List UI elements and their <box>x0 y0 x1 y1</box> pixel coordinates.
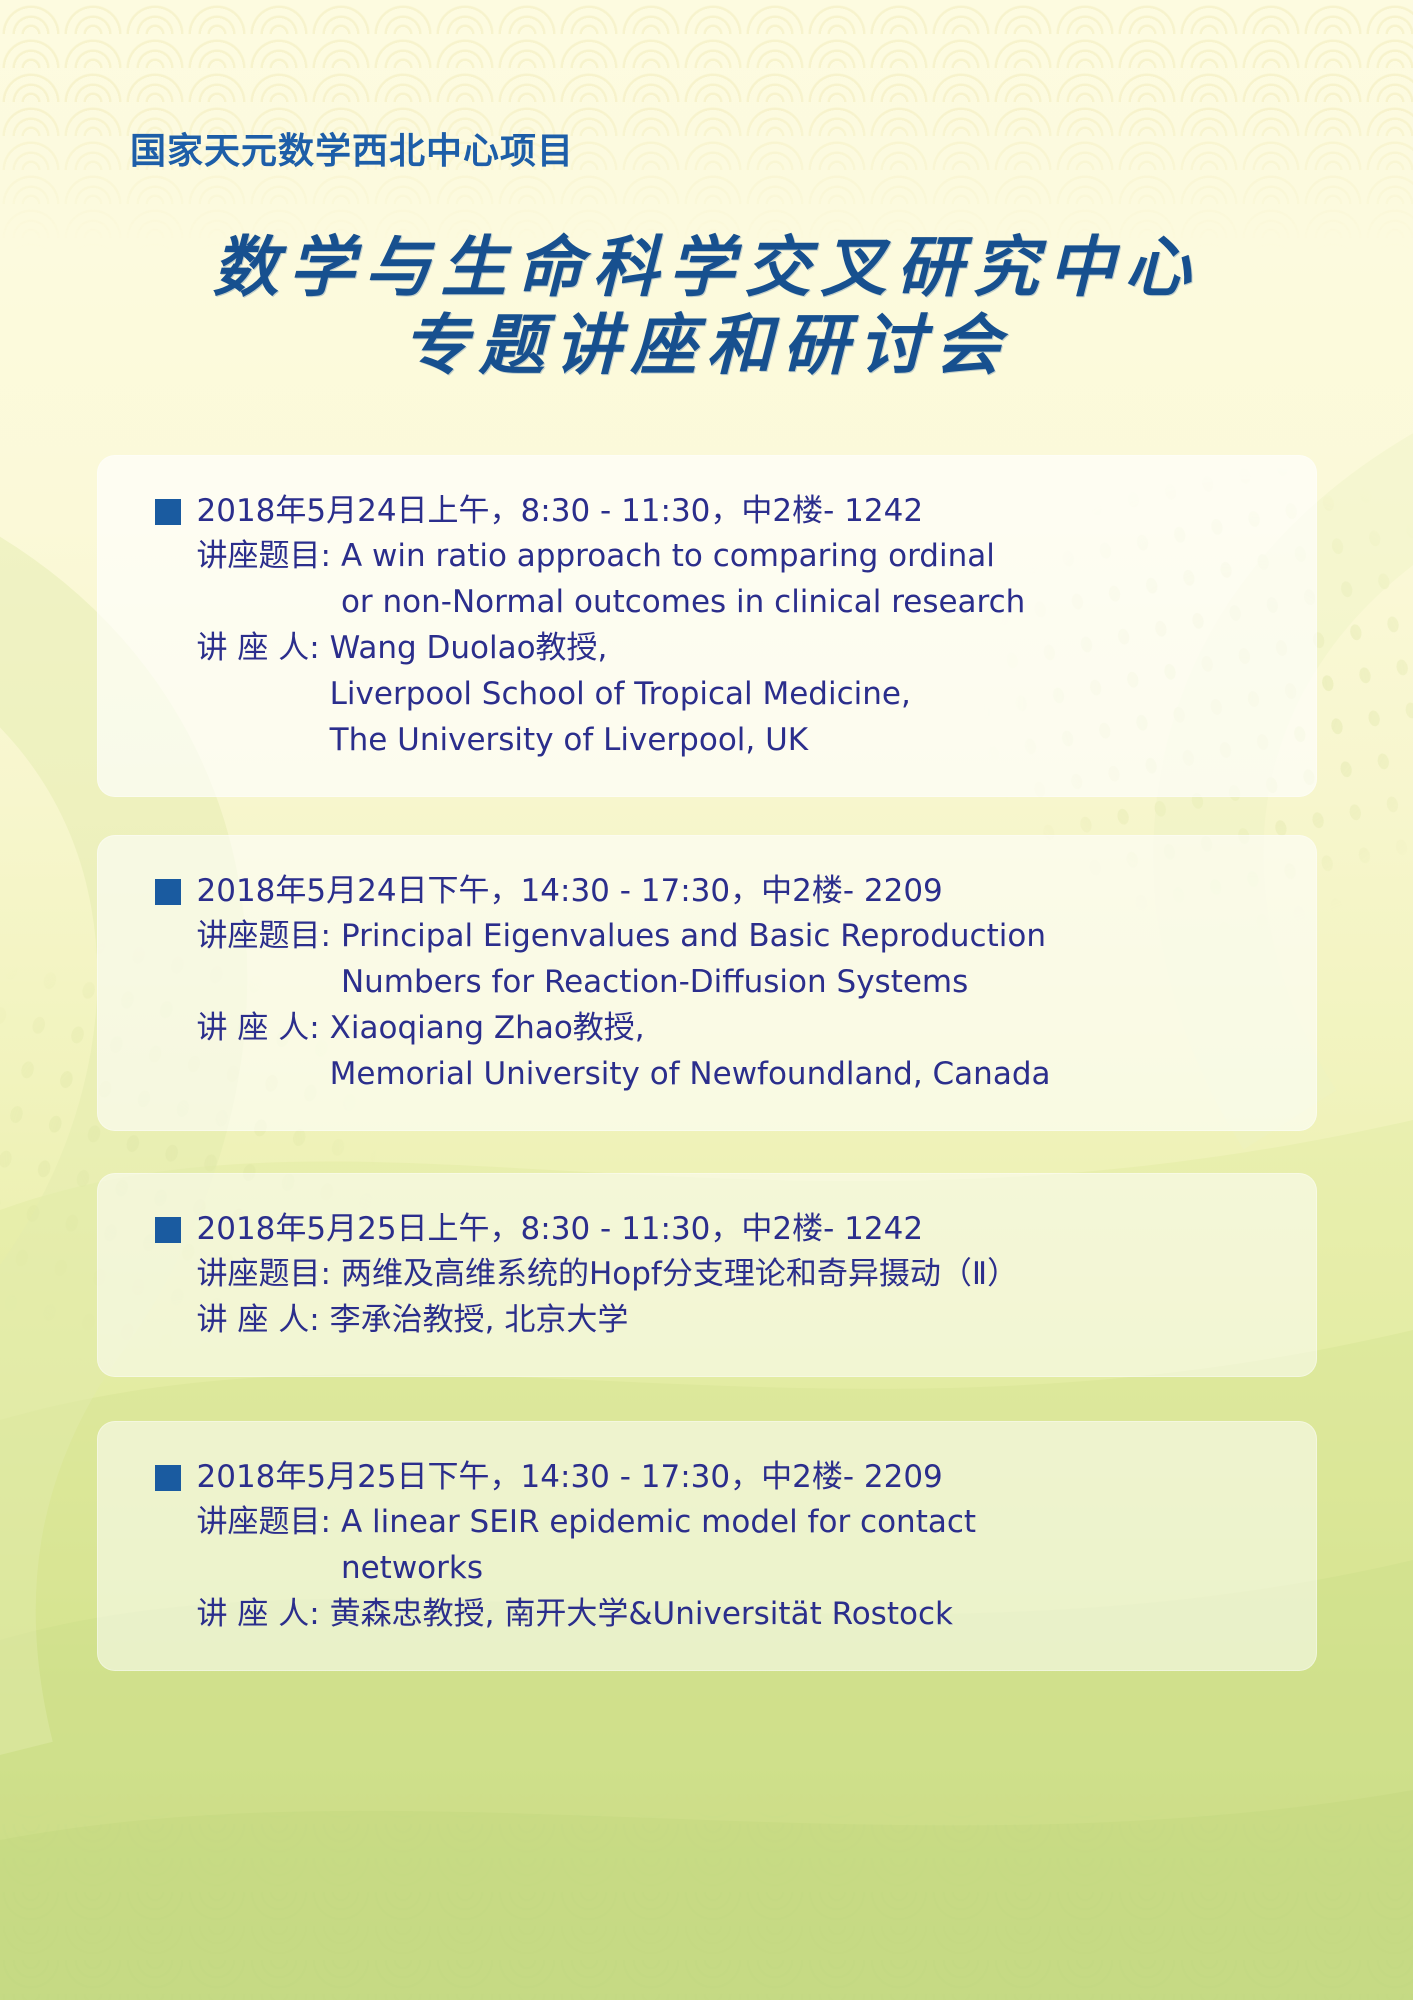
session-header-row: 2018年5月25日下午，14:30 - 17:30，中2楼- 2209 <box>137 1455 1277 1499</box>
session-datetime-location: 2018年5月24日上午，8:30 - 11:30，中2楼- 1242 <box>197 489 924 533</box>
session-card: 2018年5月24日下午，14:30 - 17:30，中2楼- 2209 讲座题… <box>97 835 1317 1131</box>
topic-line: Principal Eigenvalues and Basic Reproduc… <box>341 913 1046 959</box>
session-speaker-row: 讲 座 人: Xiaoqiang Zhao教授, Memorial Univer… <box>197 1005 1277 1097</box>
session-speaker-row: 讲 座 人: 黄森忠教授, 南开大学&Universität Rostock <box>197 1591 1277 1637</box>
speaker-line: Liverpool School of Tropical Medicine, <box>330 671 911 717</box>
square-bullet-icon <box>155 1217 181 1243</box>
topic-value: Principal Eigenvalues and Basic Reproduc… <box>341 913 1046 1005</box>
poster-root: 国家天元数学西北中心项目 数学与生命科学交叉研究中心 专题讲座和研讨会 2018… <box>0 0 1413 2000</box>
session-datetime-location: 2018年5月25日下午，14:30 - 17:30，中2楼- 2209 <box>197 1455 943 1499</box>
scallop-pattern-bottom <box>0 1790 1413 2000</box>
topic-value: A linear SEIR epidemic model for contact… <box>341 1499 976 1591</box>
session-card: 2018年5月25日下午，14:30 - 17:30，中2楼- 2209 讲座题… <box>97 1421 1317 1671</box>
session-topic-row: 讲座题目: A win ratio approach to comparing … <box>197 533 1277 625</box>
square-bullet-icon <box>155 499 181 525</box>
speaker-line: 李承治教授, 北京大学 <box>330 1297 629 1343</box>
speaker-line: Xiaoqiang Zhao教授, <box>330 1005 1051 1051</box>
topic-value: 两维及高维系统的Hopf分支理论和奇异摄动（Ⅱ） <box>341 1251 1018 1297</box>
speaker-label: 讲 座 人: <box>197 625 330 671</box>
speaker-line: The University of Liverpool, UK <box>330 717 911 763</box>
speaker-value: 黄森忠教授, 南开大学&Universität Rostock <box>330 1591 953 1637</box>
session-card: 2018年5月25日上午，8:30 - 11:30，中2楼- 1242 讲座题目… <box>97 1173 1317 1377</box>
session-speaker-row: 讲 座 人: 李承治教授, 北京大学 <box>197 1297 1277 1343</box>
session-topic-row: 讲座题目: A linear SEIR epidemic model for c… <box>197 1499 1277 1591</box>
speaker-value: Wang Duolao教授, Liverpool School of Tropi… <box>330 625 911 763</box>
topic-line: A linear SEIR epidemic model for contact <box>341 1499 976 1545</box>
speaker-line: 黄森忠教授, 南开大学&Universität Rostock <box>330 1591 953 1637</box>
session-card: 2018年5月24日上午，8:30 - 11:30，中2楼- 1242 讲座题目… <box>97 455 1317 797</box>
topic-label: 讲座题目: <box>197 1499 341 1545</box>
speaker-value: Xiaoqiang Zhao教授, Memorial University of… <box>330 1005 1051 1097</box>
session-header-row: 2018年5月25日上午，8:30 - 11:30，中2楼- 1242 <box>137 1207 1277 1251</box>
speaker-label: 讲 座 人: <box>197 1591 330 1637</box>
topic-label: 讲座题目: <box>197 1251 341 1297</box>
topic-value: A win ratio approach to comparing ordina… <box>341 533 1025 625</box>
poster-main-title: 数学与生命科学交叉研究中心 专题讲座和研讨会 <box>0 228 1413 384</box>
speaker-label: 讲 座 人: <box>197 1297 330 1343</box>
title-line-1: 数学与生命科学交叉研究中心 <box>0 228 1413 306</box>
session-header-row: 2018年5月24日下午，14:30 - 17:30，中2楼- 2209 <box>137 869 1277 913</box>
title-line-2: 专题讲座和研讨会 <box>0 306 1413 384</box>
page-title-organization: 国家天元数学西北中心项目 <box>130 122 574 174</box>
topic-line: networks <box>341 1545 976 1591</box>
session-datetime-location: 2018年5月25日上午，8:30 - 11:30，中2楼- 1242 <box>197 1207 924 1251</box>
topic-label: 讲座题目: <box>197 533 341 579</box>
speaker-label: 讲 座 人: <box>197 1005 330 1051</box>
speaker-line: Wang Duolao教授, <box>330 625 911 671</box>
session-list: 2018年5月24日上午，8:30 - 11:30，中2楼- 1242 讲座题目… <box>0 455 1413 1699</box>
session-topic-row: 讲座题目: Principal Eigenvalues and Basic Re… <box>197 913 1277 1005</box>
square-bullet-icon <box>155 1465 181 1491</box>
speaker-line: Memorial University of Newfoundland, Can… <box>330 1051 1051 1097</box>
topic-line: A win ratio approach to comparing ordina… <box>341 533 1025 579</box>
session-speaker-row: 讲 座 人: Wang Duolao教授, Liverpool School o… <box>197 625 1277 763</box>
topic-line: Numbers for Reaction-Diffusion Systems <box>341 959 1046 1005</box>
square-bullet-icon <box>155 879 181 905</box>
topic-line: or non-Normal outcomes in clinical resea… <box>341 579 1025 625</box>
topic-line: 两维及高维系统的Hopf分支理论和奇异摄动（Ⅱ） <box>341 1251 1018 1297</box>
topic-label: 讲座题目: <box>197 913 341 959</box>
speaker-value: 李承治教授, 北京大学 <box>330 1297 629 1343</box>
session-topic-row: 讲座题目: 两维及高维系统的Hopf分支理论和奇异摄动（Ⅱ） <box>197 1251 1277 1297</box>
session-datetime-location: 2018年5月24日下午，14:30 - 17:30，中2楼- 2209 <box>197 869 943 913</box>
session-header-row: 2018年5月24日上午，8:30 - 11:30，中2楼- 1242 <box>137 489 1277 533</box>
